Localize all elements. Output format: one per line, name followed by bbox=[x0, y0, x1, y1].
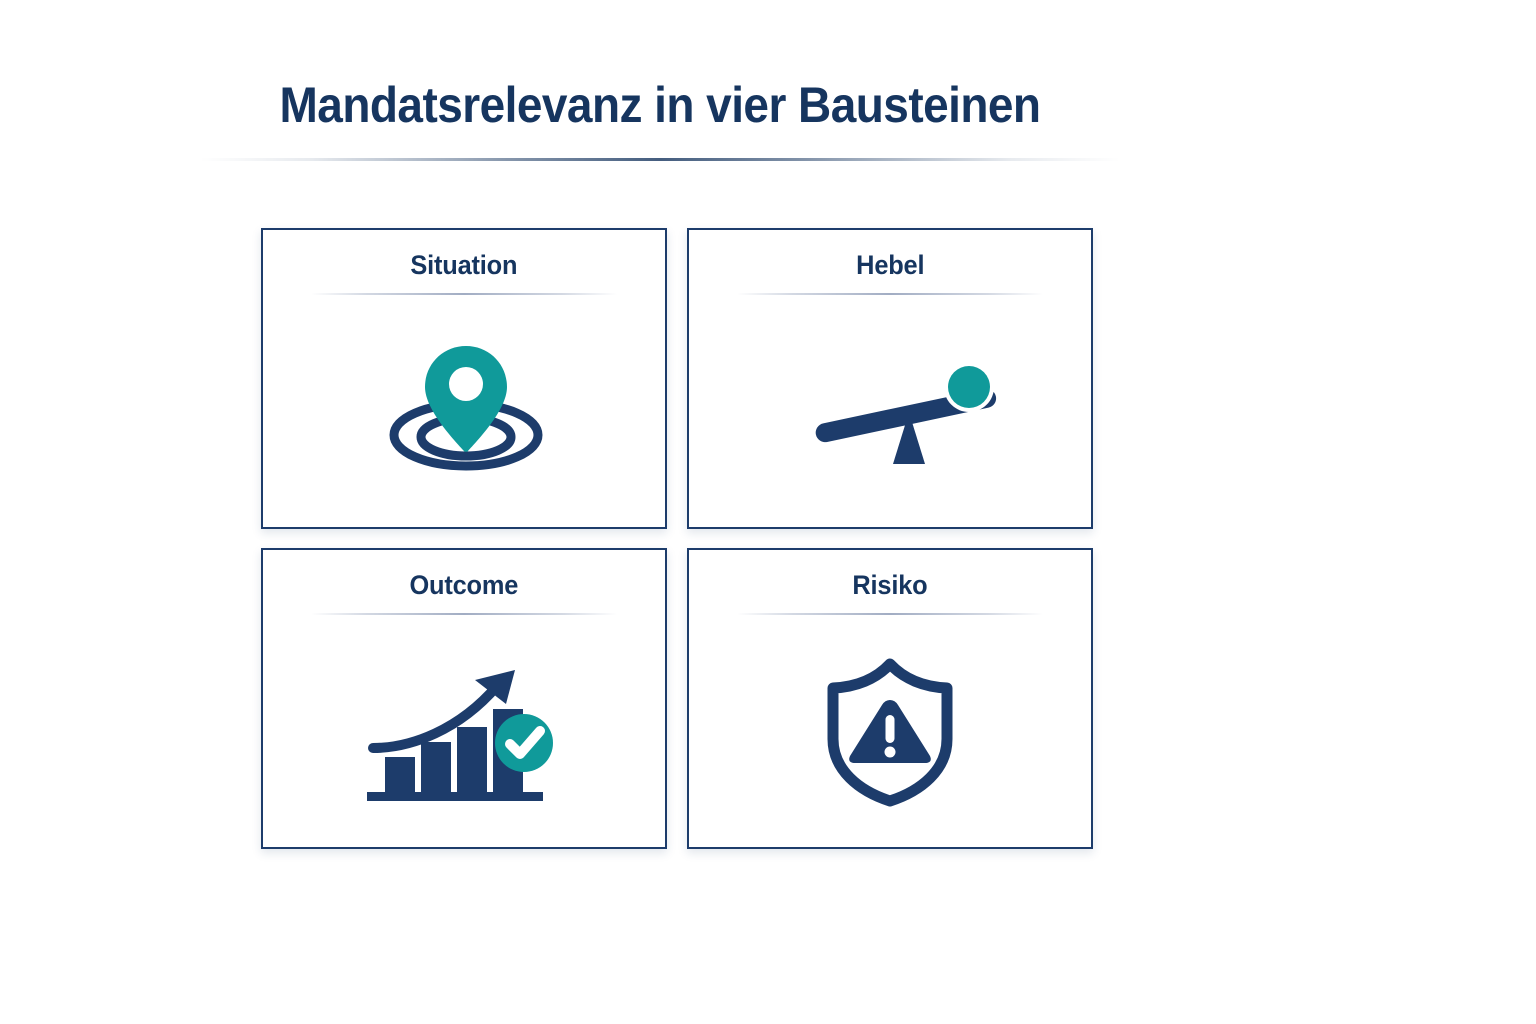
location-pin-radar-icon bbox=[376, 338, 556, 478]
title-divider bbox=[200, 158, 1120, 161]
card-icon-hebel bbox=[689, 295, 1091, 527]
card-icon-situation bbox=[263, 295, 665, 527]
slide-canvas: Mandatsrelevanz in vier Bausteinen Situa… bbox=[0, 0, 1536, 1024]
card-title-outcome: Outcome bbox=[410, 570, 519, 601]
page-title: Mandatsrelevanz in vier Bausteinen bbox=[237, 78, 1083, 132]
card-icon-risiko bbox=[689, 615, 1091, 847]
card-risiko[interactable]: Risiko bbox=[687, 548, 1093, 849]
lever-fulcrum-icon bbox=[806, 356, 1006, 476]
card-grid: Situation Hebel bbox=[261, 228, 1093, 849]
card-hebel[interactable]: Hebel bbox=[687, 228, 1093, 529]
card-situation[interactable]: Situation bbox=[261, 228, 667, 529]
card-icon-outcome bbox=[263, 615, 665, 847]
growth-chart-check-icon bbox=[363, 664, 563, 804]
shield-warning-icon bbox=[820, 657, 960, 807]
card-title-risiko: Risiko bbox=[852, 570, 927, 601]
card-outcome[interactable]: Outcome bbox=[261, 548, 667, 849]
slide-header: Mandatsrelevanz in vier Bausteinen bbox=[200, 78, 1120, 132]
card-title-hebel: Hebel bbox=[856, 250, 924, 281]
card-title-situation: Situation bbox=[411, 250, 518, 281]
